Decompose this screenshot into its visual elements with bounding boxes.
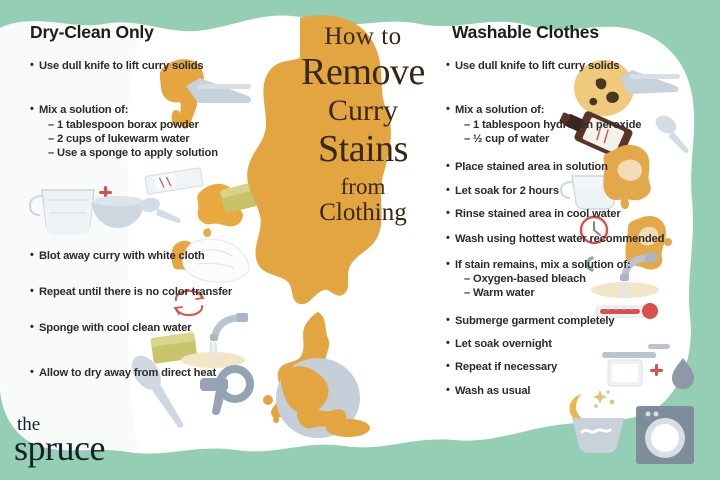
washable-clothes-heading: Washable Clothes bbox=[452, 22, 696, 43]
list-item-text: Mix a solution of: bbox=[39, 104, 128, 116]
list-item-text: Place stained area in solution bbox=[455, 161, 608, 173]
list-item-text: Wash using hottest water recommended bbox=[455, 233, 664, 245]
dry-clean-only-column: Dry-Clean Only Use dull knife to lift cu… bbox=[30, 22, 270, 393]
list-item-text: Repeat if necessary bbox=[455, 361, 557, 373]
list-item: Wash as usual bbox=[446, 384, 696, 398]
list-item-text: Let soak overnight bbox=[455, 338, 552, 350]
list-item: Mix a solution of: 1 tablespoon borax po… bbox=[30, 103, 270, 160]
list-subitem: 1 tablespoon hydrogen peroxide bbox=[455, 118, 696, 132]
list-item: Place stained area in solution bbox=[446, 160, 696, 174]
list-item: Use dull knife to lift curry solids bbox=[446, 59, 696, 73]
list-item: Wash using hottest water recommended bbox=[446, 232, 696, 246]
title-line-2: Remove bbox=[252, 53, 474, 91]
list-subitem: 2 cups of lukewarm water bbox=[39, 132, 270, 146]
list-item: Allow to dry away from direct heat bbox=[30, 366, 270, 380]
list-item-text: Rinse stained area in cool water bbox=[455, 208, 621, 220]
list-item: Repeat if necessary bbox=[446, 360, 696, 374]
list-item: Let soak for 2 hours bbox=[446, 184, 696, 198]
list-item-text: Use dull knife to lift curry solids bbox=[455, 60, 619, 72]
list-item: Mix a solution of: 1 tablespoon hydrogen… bbox=[446, 103, 696, 146]
washable-clothes-column: Washable Clothes Use dull knife to lift … bbox=[446, 22, 696, 407]
logo-word-spruce: spruce bbox=[14, 433, 105, 464]
list-item: Sponge with cool clean water bbox=[30, 321, 270, 335]
list-item-text: Use dull knife to lift curry solids bbox=[39, 60, 203, 72]
list-item: Rinse stained area in cool water bbox=[446, 207, 696, 221]
list-subitem: ½ cup of water bbox=[455, 132, 696, 146]
list-subitem: Warm water bbox=[455, 286, 696, 300]
title-line-4: Stains bbox=[252, 130, 474, 168]
list-subitem: 1 tablespoon borax powder bbox=[39, 118, 270, 132]
list-item-text: Repeat until there is no color transfer bbox=[39, 286, 232, 298]
list-item: If stain remains, mix a solution of: Oxy… bbox=[446, 258, 696, 301]
title-line-5: from bbox=[252, 175, 474, 198]
dry-clean-only-heading: Dry-Clean Only bbox=[30, 22, 270, 43]
list-item: Let soak overnight bbox=[446, 337, 696, 351]
infographic-canvas: How to Remove Curry Stains from Clothing… bbox=[0, 0, 720, 480]
list-item: Blot away curry with white cloth bbox=[30, 249, 270, 263]
list-item-text: Allow to dry away from direct heat bbox=[39, 367, 216, 379]
title-line-3: Curry bbox=[252, 96, 474, 126]
title-line-1: How to bbox=[252, 24, 474, 49]
title-line-6: Clothing bbox=[252, 200, 474, 225]
list-item: Use dull knife to lift curry solids bbox=[30, 59, 270, 73]
list-item-text: If stain remains, mix a solution of: bbox=[455, 259, 631, 271]
brand-logo[interactable]: the spruce bbox=[14, 417, 105, 464]
list-item-text: Blot away curry with white cloth bbox=[39, 250, 205, 262]
list-subitem: Use a sponge to apply solution bbox=[39, 146, 270, 160]
list-item: Repeat until there is no color transfer bbox=[30, 285, 270, 299]
list-item-text: Sponge with cool clean water bbox=[39, 322, 191, 334]
list-subitem: Oxygen-based bleach bbox=[455, 272, 696, 286]
page-title: How to Remove Curry Stains from Clothing bbox=[252, 24, 474, 225]
list-item: Submerge garment completely bbox=[446, 314, 696, 328]
list-item-text: Wash as usual bbox=[455, 385, 530, 397]
list-item-text: Submerge garment completely bbox=[455, 315, 614, 327]
